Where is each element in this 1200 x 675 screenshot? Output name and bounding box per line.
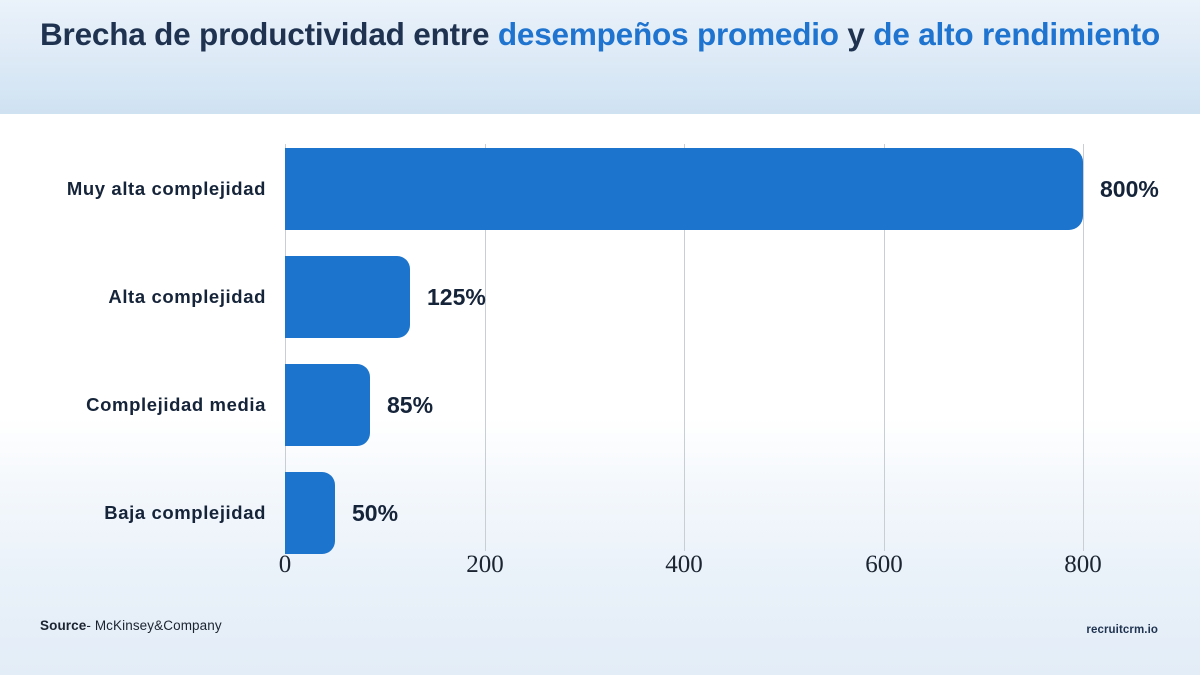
source-value: - McKinsey&Company bbox=[86, 618, 221, 633]
bar-row: Alta complejidad125% bbox=[0, 256, 1200, 338]
page-title: Brecha de productividad entre desempeños… bbox=[20, 14, 1180, 56]
slide-root: Brecha de productividad entre desempeños… bbox=[0, 0, 1200, 675]
bar-row: Muy alta complejidad800% bbox=[0, 148, 1200, 230]
bar-2[interactable] bbox=[285, 256, 410, 338]
source-note: Source- McKinsey&Company bbox=[40, 618, 222, 633]
category-label: Muy alta complejidad bbox=[0, 148, 266, 230]
source-label: Source bbox=[40, 618, 86, 633]
chart-bars: Muy alta complejidad800%Alta complejidad… bbox=[0, 114, 1200, 604]
category-label: Baja complejidad bbox=[0, 472, 266, 554]
x-tick-label: 200 bbox=[466, 551, 504, 579]
title-segment-2: y bbox=[839, 16, 873, 52]
bar-value-label: 50% bbox=[352, 472, 398, 554]
bar-3[interactable] bbox=[285, 364, 370, 446]
title-accent-1: desempeños promedio bbox=[498, 16, 839, 52]
bar-value-label: 800% bbox=[1100, 148, 1159, 230]
x-tick-label: 600 bbox=[865, 551, 903, 579]
bar-value-label: 125% bbox=[427, 256, 486, 338]
bar-4[interactable] bbox=[285, 472, 335, 554]
bar-value-label: 85% bbox=[387, 364, 433, 446]
category-label: Complejidad media bbox=[0, 364, 266, 446]
brand-logo: recruitcrm.io bbox=[1086, 624, 1158, 636]
x-tick-label: 0 bbox=[279, 551, 292, 579]
title-segment-1: Brecha de productividad entre bbox=[40, 16, 498, 52]
x-tick-label: 400 bbox=[665, 551, 703, 579]
category-label: Alta complejidad bbox=[0, 256, 266, 338]
title-accent-2: de alto rendimiento bbox=[873, 16, 1160, 52]
bar-1[interactable] bbox=[285, 148, 1083, 230]
x-tick-label: 800 bbox=[1064, 551, 1102, 579]
bar-row: Baja complejidad50% bbox=[0, 472, 1200, 554]
bar-row: Complejidad media85% bbox=[0, 364, 1200, 446]
x-axis-ticks: 0200400600800 bbox=[0, 551, 1200, 597]
bar-chart: Muy alta complejidad800%Alta complejidad… bbox=[0, 114, 1200, 604]
